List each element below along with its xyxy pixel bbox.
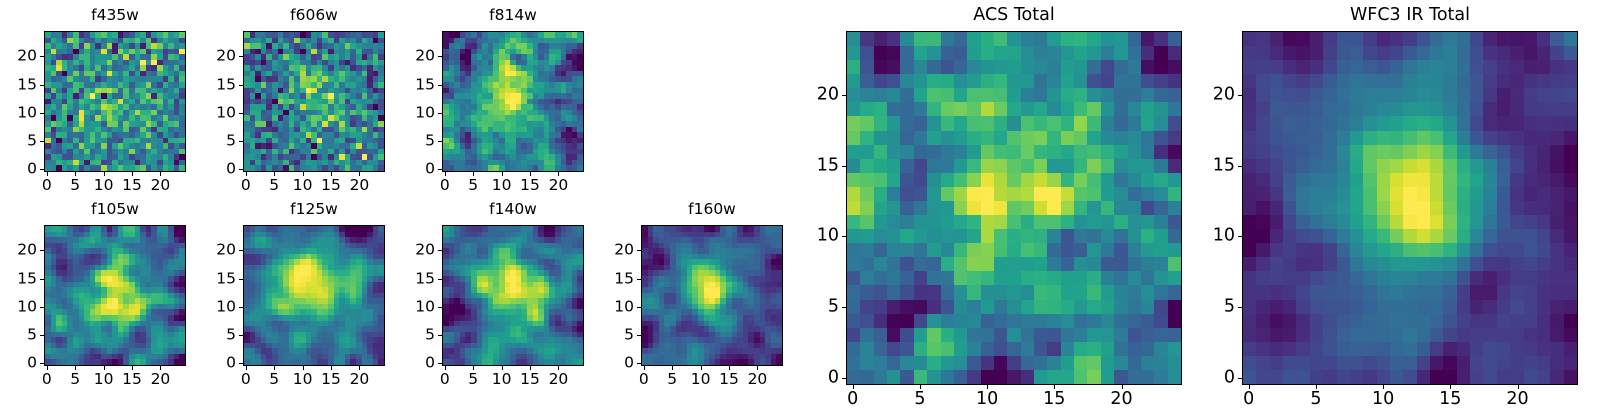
y-tick-label: 0: [601, 355, 634, 371]
y-tick-mark: [40, 85, 44, 86]
y-tick-mark: [637, 307, 641, 308]
y-tick-label: 0: [4, 355, 37, 371]
heatmap-cells-f125w: [244, 226, 384, 365]
x-tick-label: 0: [42, 372, 52, 388]
y-tick-label: 20: [601, 243, 634, 259]
y-tick-label: 10: [4, 299, 37, 315]
y-tick-label: 0: [4, 161, 37, 177]
y-tick-label: 10: [601, 299, 634, 315]
heatmap-axes-f160w: [641, 225, 783, 366]
panel-title-f606w: f606w: [243, 8, 385, 24]
x-tick-label: 10: [293, 178, 313, 194]
y-tick-mark: [40, 335, 44, 336]
x-tick-label: 0: [639, 372, 649, 388]
y-tick-label: 20: [402, 49, 435, 65]
panel-title-f814w: f814w: [442, 8, 584, 24]
y-tick-label: 20: [4, 49, 37, 65]
y-tick-mark: [1238, 95, 1242, 96]
x-tick-label: 10: [492, 178, 512, 194]
panel-f105w: f105w0510152005101520: [4, 195, 194, 392]
y-tick-label: 15: [1198, 157, 1235, 175]
y-tick-label: 20: [203, 243, 236, 259]
x-tick-label: 5: [70, 372, 80, 388]
y-tick-label: 10: [402, 105, 435, 121]
x-tick-label: 15: [520, 372, 540, 388]
y-tick-label: 5: [1198, 298, 1235, 316]
y-tick-mark: [239, 85, 243, 86]
y-tick-mark: [438, 113, 442, 114]
y-tick-label: 20: [203, 49, 236, 65]
y-tick-mark: [239, 113, 243, 114]
y-tick-mark: [842, 236, 846, 237]
y-tick-mark: [637, 363, 641, 364]
y-tick-mark: [438, 56, 442, 57]
y-tick-mark: [842, 95, 846, 96]
y-tick-label: 20: [402, 243, 435, 259]
x-tick-label: 10: [94, 178, 114, 194]
panel-f606w: f606w0510152005101520: [203, 1, 393, 198]
heatmap-cells-f606w: [244, 32, 384, 171]
y-tick-mark: [239, 307, 243, 308]
y-tick-label: 10: [4, 105, 37, 121]
heatmap-axes-f435w: [44, 31, 186, 172]
x-tick-label: 20: [151, 178, 171, 194]
y-tick-mark: [438, 169, 442, 170]
heatmap-axes-f606w: [243, 31, 385, 172]
y-tick-label: 5: [802, 298, 839, 316]
y-tick-label: 10: [203, 105, 236, 121]
panel-f160w: f160w0510152005101520: [601, 195, 791, 392]
y-tick-mark: [239, 169, 243, 170]
y-tick-label: 10: [1198, 228, 1235, 246]
y-tick-label: 15: [402, 271, 435, 287]
heatmap-axes-f140w: [442, 225, 584, 366]
x-tick-label: 5: [468, 178, 478, 194]
x-tick-label: 15: [719, 372, 739, 388]
x-tick-label: 20: [549, 178, 569, 194]
heatmap-cells-f105w: [45, 226, 185, 365]
y-tick-mark: [438, 85, 442, 86]
x-tick-label: 20: [350, 178, 370, 194]
panel-title-f435w: f435w: [44, 8, 186, 24]
x-tick-label: 20: [151, 372, 171, 388]
x-tick-label: 10: [691, 372, 711, 388]
y-tick-label: 10: [203, 299, 236, 315]
x-tick-label: 15: [321, 372, 341, 388]
x-tick-label: 5: [70, 178, 80, 194]
y-tick-label: 0: [402, 161, 435, 177]
y-tick-label: 0: [203, 355, 236, 371]
y-tick-label: 10: [802, 228, 839, 246]
y-tick-mark: [1238, 378, 1242, 379]
y-tick-label: 15: [4, 77, 37, 93]
y-tick-mark: [239, 363, 243, 364]
y-tick-label: 5: [203, 327, 236, 343]
y-tick-label: 15: [203, 77, 236, 93]
y-tick-mark: [637, 279, 641, 280]
heatmap-cells-acs-total: [847, 32, 1181, 384]
y-tick-mark: [239, 279, 243, 280]
panel-title-wfc3-ir-total: WFC3 IR Total: [1242, 7, 1578, 25]
y-tick-label: 5: [402, 327, 435, 343]
y-tick-label: 20: [1198, 86, 1235, 104]
y-tick-label: 10: [402, 299, 435, 315]
x-tick-label: 15: [122, 178, 142, 194]
y-tick-label: 15: [203, 271, 236, 287]
y-tick-mark: [438, 141, 442, 142]
y-tick-mark: [40, 56, 44, 57]
heatmap-axes-f125w: [243, 225, 385, 366]
y-tick-mark: [40, 113, 44, 114]
y-tick-label: 15: [601, 271, 634, 287]
heatmap-cells-wfc3-ir-total: [1243, 32, 1577, 384]
y-tick-mark: [842, 166, 846, 167]
y-tick-label: 20: [4, 243, 37, 259]
x-tick-label: 0: [241, 372, 251, 388]
x-tick-label: 0: [241, 178, 251, 194]
y-tick-mark: [438, 335, 442, 336]
y-tick-mark: [40, 141, 44, 142]
panel-title-f140w: f140w: [442, 202, 584, 218]
heatmap-axes-wfc3-ir-total: [1242, 31, 1578, 385]
x-tick-label: 10: [293, 372, 313, 388]
x-tick-label: 15: [520, 178, 540, 194]
y-tick-label: 5: [601, 327, 634, 343]
panel-title-acs-total: ACS Total: [846, 7, 1182, 25]
y-tick-mark: [1238, 236, 1242, 237]
y-tick-label: 5: [4, 327, 37, 343]
x-tick-label: 5: [269, 178, 279, 194]
y-tick-mark: [40, 279, 44, 280]
y-tick-mark: [239, 250, 243, 251]
panel-f125w: f125w0510152005101520: [203, 195, 393, 392]
y-tick-mark: [842, 307, 846, 308]
heatmap-axes-acs-total: [846, 31, 1182, 385]
heatmap-cells-f160w: [642, 226, 782, 365]
panel-f140w: f140w0510152005101520: [402, 195, 592, 392]
y-tick-label: 5: [4, 133, 37, 149]
y-tick-label: 0: [1198, 369, 1235, 387]
x-tick-label: 5: [269, 372, 279, 388]
x-tick-label: 10: [94, 372, 114, 388]
y-tick-label: 20: [802, 86, 839, 104]
y-tick-mark: [239, 141, 243, 142]
y-tick-mark: [438, 250, 442, 251]
heatmap-cells-f435w: [45, 32, 185, 171]
panel-title-f160w: f160w: [641, 202, 783, 218]
y-tick-mark: [239, 56, 243, 57]
y-tick-mark: [637, 335, 641, 336]
x-tick-label: 5: [468, 372, 478, 388]
y-tick-mark: [40, 250, 44, 251]
y-tick-label: 0: [402, 355, 435, 371]
y-tick-mark: [1238, 166, 1242, 167]
x-tick-label: 0: [440, 372, 450, 388]
x-tick-label: 15: [122, 372, 142, 388]
x-tick-label: 15: [321, 178, 341, 194]
y-tick-label: 0: [802, 369, 839, 387]
heatmap-axes-f814w: [442, 31, 584, 172]
y-tick-label: 0: [203, 161, 236, 177]
y-tick-mark: [438, 307, 442, 308]
y-tick-mark: [438, 363, 442, 364]
panel-f435w: f435w0510152005101520: [4, 1, 194, 198]
x-tick-label: 20: [748, 372, 768, 388]
y-tick-mark: [40, 307, 44, 308]
y-tick-label: 15: [4, 271, 37, 287]
heatmap-cells-f140w: [443, 226, 583, 365]
heatmap-axes-f105w: [44, 225, 186, 366]
y-tick-mark: [637, 250, 641, 251]
y-tick-label: 5: [203, 133, 236, 149]
panel-title-f105w: f105w: [44, 202, 186, 218]
y-tick-mark: [239, 335, 243, 336]
heatmap-cells-f814w: [443, 32, 583, 171]
panel-acs-total: ACS Total0510152005101520: [802, 1, 1190, 411]
y-tick-mark: [1238, 307, 1242, 308]
y-tick-label: 15: [402, 77, 435, 93]
y-tick-label: 15: [802, 157, 839, 175]
y-tick-label: 5: [402, 133, 435, 149]
x-tick-label: 5: [667, 372, 677, 388]
x-tick-label: 0: [440, 178, 450, 194]
y-tick-mark: [438, 279, 442, 280]
panel-wfc3-ir-total: WFC3 IR Total0510152005101520: [1198, 1, 1586, 411]
figure-canvas: f435w0510152005101520f606w05101520051015…: [0, 0, 1600, 400]
y-tick-mark: [40, 363, 44, 364]
panel-f814w: f814w0510152005101520: [402, 1, 592, 198]
x-tick-label: 20: [350, 372, 370, 388]
x-tick-label: 20: [549, 372, 569, 388]
x-tick-label: 0: [42, 178, 52, 194]
x-tick-label: 10: [492, 372, 512, 388]
panel-title-f125w: f125w: [243, 202, 385, 218]
y-tick-mark: [40, 169, 44, 170]
y-tick-mark: [842, 378, 846, 379]
